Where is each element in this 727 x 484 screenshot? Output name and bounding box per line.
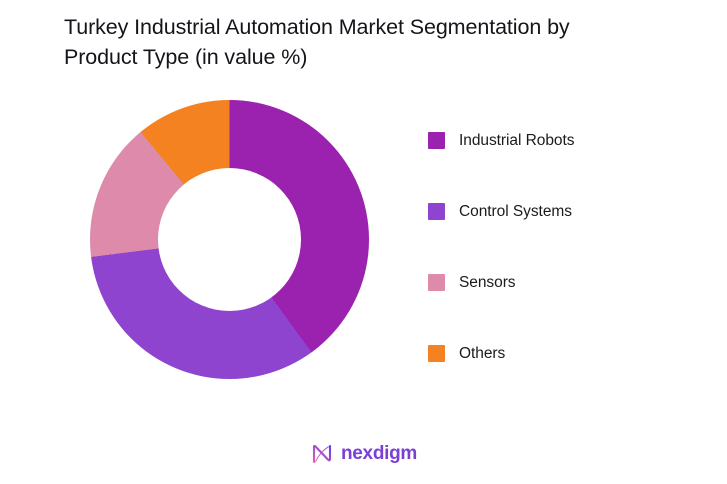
legend-swatch-icon [428, 345, 445, 362]
legend-item[interactable]: Industrial Robots [428, 105, 678, 176]
legend-item[interactable]: Control Systems [428, 176, 678, 247]
legend-swatch-icon [428, 203, 445, 220]
nexdigm-n-logo-icon [310, 442, 334, 466]
donut-center-hole [158, 168, 301, 311]
legend-item-label: Control Systems [459, 203, 572, 221]
brand-footer: nexdigm [0, 442, 727, 466]
chart-title: Turkey Industrial Automation Market Segm… [64, 12, 684, 72]
chart-legend: Industrial RobotsControl SystemsSensorsO… [428, 105, 678, 389]
legend-swatch-icon [428, 274, 445, 291]
legend-item-label: Sensors [459, 274, 516, 292]
slide-canvas: Turkey Industrial Automation Market Segm… [0, 0, 727, 484]
legend-item[interactable]: Others [428, 318, 678, 389]
legend-item-label: Industrial Robots [459, 132, 574, 150]
brand-name: nexdigm [341, 443, 417, 465]
legend-swatch-icon [428, 132, 445, 149]
legend-item-label: Others [459, 345, 505, 363]
donut-chart [90, 100, 369, 379]
legend-item[interactable]: Sensors [428, 247, 678, 318]
